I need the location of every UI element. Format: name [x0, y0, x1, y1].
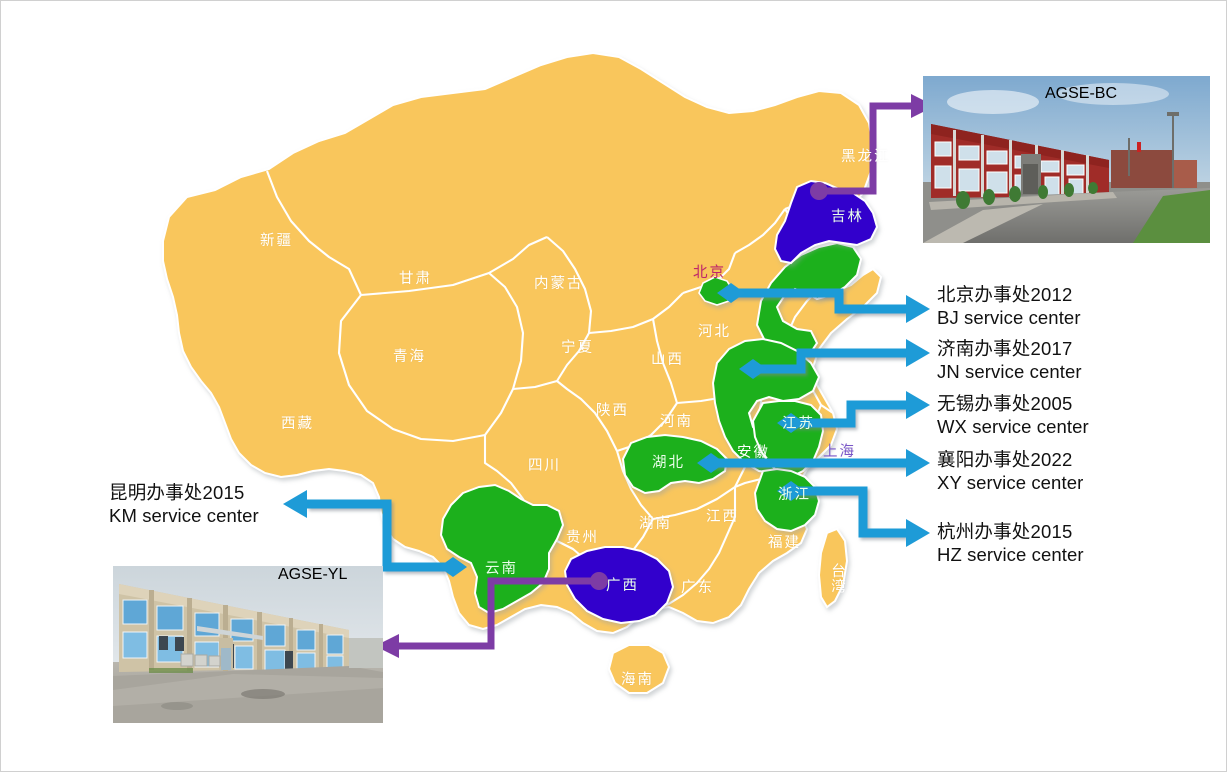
callout-wx: 无锡办事处2005 WX service center [937, 393, 1089, 438]
province-label-guizhou: 贵州 [566, 526, 599, 547]
province-label-fujian: 福建 [768, 531, 801, 552]
province-label-beijing: 北京 [693, 261, 726, 282]
callout-km-cn: 昆明办事处2015 [109, 482, 259, 505]
province-label-xinjiang: 新疆 [260, 229, 293, 250]
province-label-anhui: 安徽 [737, 441, 770, 462]
callout-wx-en: WX service center [937, 416, 1089, 439]
province-label-qinghai: 青海 [393, 345, 426, 366]
province-label-jiangxi: 江西 [706, 505, 739, 526]
figure-canvas: 新疆 甘肃 内蒙古 青海 宁夏 山西 河北 北京 西藏 陕西 河南 四川 湖北 … [0, 0, 1227, 772]
callout-xy-cn: 襄阳办事处2022 [937, 449, 1083, 472]
photo-caption-agse-yl: AGSE-YL [278, 566, 347, 584]
province-label-shanghai: 上海 [823, 440, 856, 461]
province-label-hubei: 湖北 [652, 451, 685, 472]
province-label-guangxi: 广西 [606, 574, 639, 595]
province-label-yunnan: 云南 [485, 557, 518, 578]
callout-jn-en: JN service center [937, 361, 1082, 384]
photo-caption-agse-bc: AGSE-BC [1045, 85, 1117, 103]
province-label-hainan: 海南 [621, 668, 654, 689]
province-label-xizang: 西藏 [281, 412, 314, 433]
callout-bj-en: BJ service center [937, 307, 1081, 330]
province-label-ningxia: 宁夏 [561, 336, 594, 357]
province-label-gansu: 甘肃 [399, 267, 432, 288]
province-label-jilin: 吉林 [831, 205, 864, 226]
callout-hz-en: HZ service center [937, 544, 1084, 567]
province-label-jiangsu: 江苏 [782, 412, 815, 433]
province-label-zhejiang: 浙江 [778, 483, 811, 504]
province-label-taiwan: 台湾 [827, 563, 848, 594]
province-label-hebei: 河北 [698, 320, 731, 341]
callout-hz-cn: 杭州办事处2015 [937, 521, 1084, 544]
callout-xy-en: XY service center [937, 472, 1083, 495]
callout-bj-cn: 北京办事处2012 [937, 284, 1081, 307]
callout-jn: 济南办事处2017 JN service center [937, 338, 1082, 383]
province-label-shanxi: 山西 [651, 348, 684, 369]
province-label-sichuan: 四川 [528, 454, 561, 475]
province-label-shaanxi: 陕西 [596, 399, 629, 420]
callout-bj: 北京办事处2012 BJ service center [937, 284, 1081, 329]
province-label-neimenggu: 内蒙古 [534, 272, 584, 293]
province-label-henan: 河南 [660, 410, 693, 431]
province-label-guangdong: 广东 [681, 576, 714, 597]
callout-hz: 杭州办事处2015 HZ service center [937, 521, 1084, 566]
province-label-hunan: 湖南 [639, 512, 672, 533]
callout-km-en: KM service center [109, 505, 259, 528]
callout-xy: 襄阳办事处2022 XY service center [937, 449, 1083, 494]
photo-agse-yl [113, 566, 383, 723]
province-label-heilongjiang: 黑龙江 [841, 145, 891, 166]
callout-km: 昆明办事处2015 KM service center [109, 482, 259, 527]
photo-yl-artwork [113, 566, 383, 723]
callout-jn-cn: 济南办事处2017 [937, 338, 1082, 361]
callout-wx-cn: 无锡办事处2005 [937, 393, 1089, 416]
